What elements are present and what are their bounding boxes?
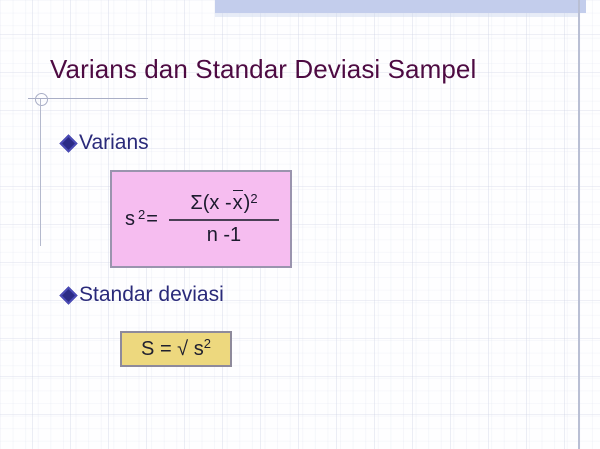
left-vertical-rule	[40, 99, 41, 246]
bullet-item-standar-deviasi: Standar deviasi	[62, 283, 224, 307]
page-title: Varians dan Standar Deviasi Sampel	[50, 52, 476, 86]
variance-symbol-s: s	[125, 208, 135, 231]
numerator-close: )	[244, 192, 251, 215]
variance-lhs: s2=	[125, 208, 158, 231]
numerator-open: (x -	[203, 192, 232, 215]
sigma-icon: Σ	[190, 192, 202, 215]
stdev-expression: S = √ s	[141, 338, 204, 361]
diamond-bullet-icon	[59, 134, 77, 152]
variance-formula-box: s2= Σ(x - x )2 n -1	[110, 170, 292, 268]
right-vertical-rule	[578, 0, 580, 449]
top-accent-band-shadow	[215, 13, 578, 17]
slide-canvas: Varians dan Standar Deviasi Sampel Varia…	[0, 0, 600, 449]
top-accent-band	[215, 0, 586, 13]
variance-numerator: Σ(x - x )2	[190, 192, 257, 217]
bullet-item-label: Varians	[79, 131, 149, 155]
variance-fraction: Σ(x - x )2 n -1	[164, 192, 290, 247]
fraction-bar	[169, 219, 279, 221]
numerator-exponent: 2	[250, 191, 257, 206]
diamond-bullet-icon	[59, 286, 77, 304]
x-bar-symbol: x	[232, 192, 244, 215]
stdev-exponent: 2	[204, 336, 211, 351]
bullet-item-label: Standar deviasi	[79, 283, 224, 307]
bullet-item-varians: Varians	[62, 131, 149, 155]
stdev-formula-box: S = √ s2	[120, 331, 232, 367]
circle-handle-icon[interactable]	[35, 93, 48, 106]
variance-denominator: n -1	[207, 224, 241, 247]
variance-equals: =	[146, 208, 158, 231]
variance-exponent: 2	[138, 207, 145, 222]
